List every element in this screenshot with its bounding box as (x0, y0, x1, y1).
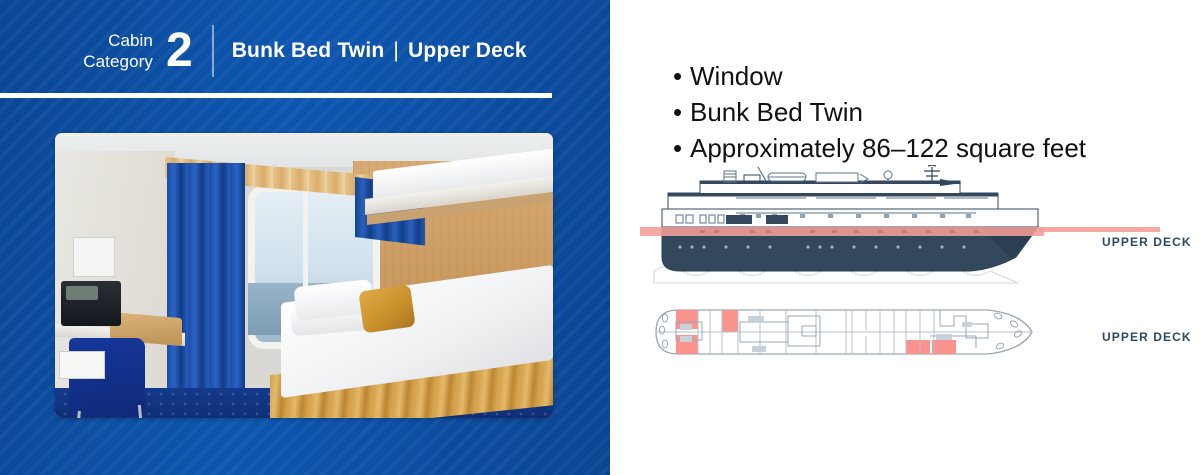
ship-profile-svg (640, 165, 1200, 285)
ship-profile-deck-label: UPPER DECK (1102, 235, 1192, 249)
deck-trim-2 (668, 193, 998, 197)
deck-plan-deck-label: UPPER DECK (1102, 330, 1192, 344)
cabin-category-label: Cabin Category (83, 30, 153, 72)
deck-plan-group (656, 310, 1032, 354)
photo-accent-pillow (358, 285, 415, 334)
list-item: •Approximately 86–122 square feet (673, 130, 1173, 166)
ship-profile-group (640, 165, 1160, 283)
features-ul: •Window •Bunk Bed Twin •Approximately 86… (673, 58, 1173, 166)
photo-curtain-left (167, 163, 245, 418)
cabin-type-label: Bunk Bed Twin (232, 39, 385, 62)
cabin-header: Cabin Category 2 Bunk Bed Twin|Upper Dec… (0, 20, 610, 82)
cabin-features-list: •Window •Bunk Bed Twin •Approximately 86… (673, 58, 1173, 166)
header-underline (0, 93, 552, 98)
cabin-category-line1: Cabin (83, 30, 153, 51)
photo-chair-leg-left (76, 411, 81, 418)
bullet-icon: • (673, 130, 690, 166)
photo-wall-notice (73, 237, 115, 277)
deck-plan-diagram: UPPER DECK (640, 290, 1200, 375)
ship-profile-diagram: UPPER DECK (640, 165, 1200, 285)
feature-text: Window (690, 61, 782, 91)
cabin-photo-image (55, 133, 553, 418)
left-blue-panel: Cabin Category 2 Bunk Bed Twin|Upper Dec… (0, 0, 610, 475)
deck-name-label: Upper Deck (408, 39, 527, 62)
bullet-icon: • (673, 58, 690, 94)
photo-control-panel-screen (66, 286, 98, 300)
bridge-top (816, 173, 858, 182)
feature-text: Bunk Bed Twin (690, 97, 863, 127)
foremast (924, 165, 940, 183)
header-title-separator: | (393, 39, 399, 63)
radar-dome (884, 171, 892, 179)
bullet-icon: • (673, 94, 690, 130)
feature-text: Approximately 86–122 square feet (690, 133, 1086, 163)
header-divider (212, 25, 214, 77)
slide-root: Cabin Category 2 Bunk Bed Twin|Upper Dec… (0, 0, 1200, 475)
funnel (744, 175, 760, 181)
upper-deck-highlight-extension (1038, 227, 1160, 232)
cabin-category-number: 2 (166, 27, 192, 75)
photo-desk-card (59, 351, 105, 379)
cabin-photo (55, 133, 553, 418)
right-content-panel: •Window •Bunk Bed Twin •Approximately 86… (610, 0, 1200, 475)
header-title: Bunk Bed Twin|Upper Deck (232, 39, 527, 63)
list-item: •Window (673, 58, 1173, 94)
list-item: •Bunk Bed Twin (673, 94, 1173, 130)
cabin-category-line2: Category (83, 51, 153, 72)
